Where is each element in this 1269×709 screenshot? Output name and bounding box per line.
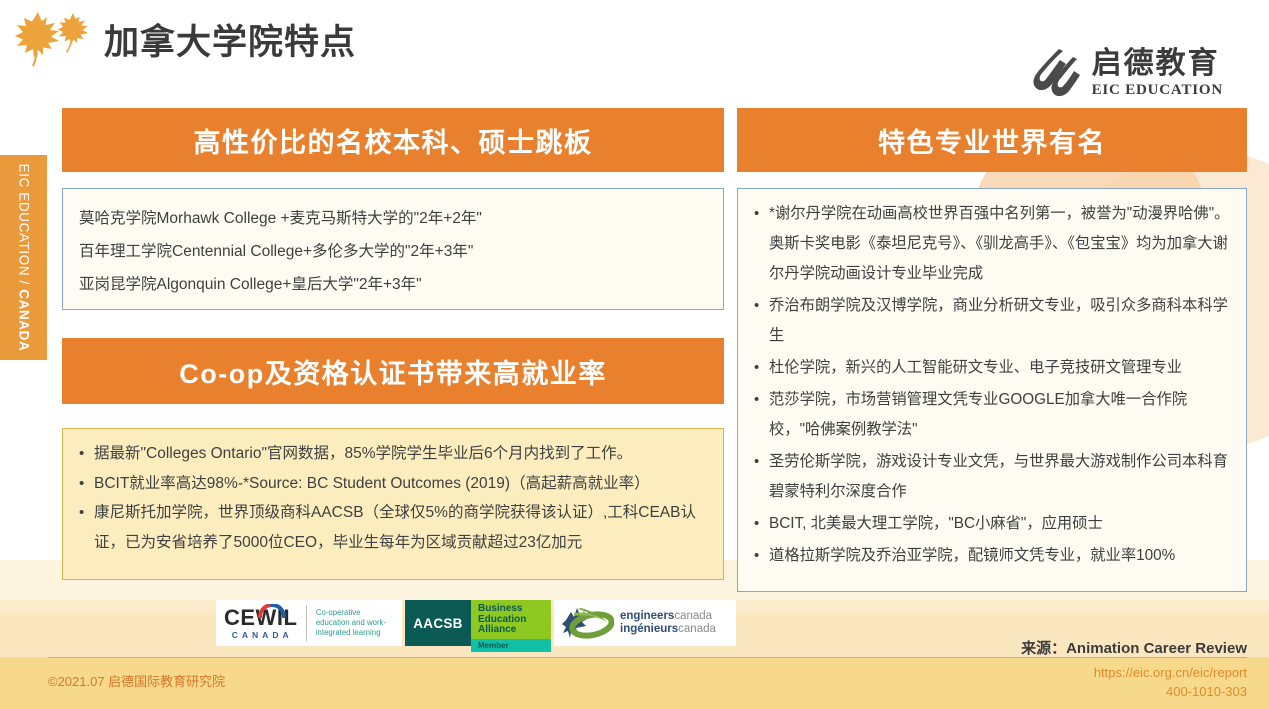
sidebar-vertical-tab: EIC EDUCATION / CANADA [0,155,47,360]
engineers-canada-en-bold: engineers [620,610,674,622]
left-box-1-line: 百年理工学院Centennial College+多伦多大学的"2年+3年" [79,235,707,268]
cewil-country: CANADA [232,631,293,640]
page-title: 加拿大学院特点 [104,14,356,65]
left-band-1-label: 高性价比的名校本科、硕士跳板 [194,121,593,160]
sidebar-tab-label: EIC EDUCATION / CANADA [16,164,31,352]
footer-phone: 400-1010-303 [1094,682,1247,701]
left-box-2-list: 据最新"Colleges Ontario"官网数据，85%学院学生毕业后6个月内… [63,429,723,567]
aacsb-name: AACSB [405,600,471,646]
engineers-canada-line-en: engineerscanada [620,610,716,623]
footer-divider [48,657,1247,658]
aacsb-logo: AACSB Business Education Alliance Member [405,600,551,646]
list-item: 范莎学院，市场营销管理文凭专业GOOGLE加拿大唯一合作院校，"哈佛案例教学法" [752,385,1234,445]
left-box-1-lines: 莫哈克学院Morhawk College +麦克马斯特大学的"2年+2年" 百年… [63,189,723,311]
engineers-canada-fr-grey: canada [678,623,716,635]
partner-logo-row: CEWIL CANADA Co-operative education and … [216,600,736,646]
list-item: 乔治布朗学院及汉博学院，商业分析研文专业，吸引众多商科本科学生 [752,291,1234,351]
sidebar-tab-label-bold: CANADA [16,289,31,351]
eic-logo-mark-icon [1029,46,1083,100]
maple-leaf-icon [12,8,98,70]
source-note-value: Animation Career Review [1066,640,1247,657]
eic-logo-wordmark: 启德教育 EIC EDUCATION [1092,49,1223,98]
engineers-canada-fr-bold: ingénieurs [620,623,678,635]
right-band-label: 特色专业世界有名 [878,121,1106,160]
left-box-1-line: 亚岗昆学院Algonquin College+皇后大学"2年+3年" [79,268,707,301]
list-item: 康尼斯托加学院，世界顶级商科AACSB（全球仅5%的商学院获得该认证）,工科CE… [77,498,711,557]
cewil-arc-icon [258,604,286,618]
cewil-tagline: Co-operative education and work-integrat… [316,608,394,638]
engineers-canada-line-fr: ingénieurscanada [620,623,716,636]
source-note: 来源：Animation Career Review [1021,637,1247,658]
cewil-wordmark: CEWIL CANADA [224,607,297,640]
list-item: BCIT就业率高达98%-*Source: BC Student Outcome… [77,469,711,499]
engineers-canada-en-grey: canada [674,610,712,622]
aacsb-alliance-label: Business Education Alliance [471,600,551,639]
aacsb-member-label: Member [471,639,551,652]
list-item: 杜伦学院，新兴的人工智能研文专业、电子竞技研文管理专业 [752,353,1234,383]
maple-leaf-svg [12,8,98,70]
engineers-canada-mark-icon [562,606,614,640]
eic-logo: 启德教育 EIC EDUCATION [1029,46,1223,100]
list-item: 道格拉斯学院及乔治亚学院，配镜师文凭专业，就业率100% [752,541,1234,571]
right-band: 特色专业世界有名 [737,108,1247,172]
footer-url[interactable]: https://eic.org.cn/eic/report [1094,663,1247,682]
footer-bar: ©2021.07 启德国际教育研究院 https://eic.org.cn/ei… [0,657,1269,709]
footer-copyright: ©2021.07 启德国际教育研究院 [48,671,225,690]
left-band-1: 高性价比的名校本科、硕士跳板 [62,108,724,172]
left-box-1: 莫哈克学院Morhawk College +麦克马斯特大学的"2年+2年" 百年… [62,188,724,310]
sidebar-tab-label-normal: EIC EDUCATION / [16,164,31,290]
left-band-2-label: Co-op及资格认证书带来高就业率 [179,352,606,391]
source-note-label: 来源： [1021,640,1066,657]
list-item: BCIT, 北美最大理工学院，"BC小麻省"，应用硕士 [752,509,1234,539]
engineers-canada-wordmark: engineerscanada ingénieurscanada [620,610,716,636]
aacsb-alliance-block: Business Education Alliance Member [471,600,551,646]
left-box-1-line: 莫哈克学院Morhawk College +麦克马斯特大学的"2年+2年" [79,202,707,235]
list-item: 据最新"Colleges Ontario"官网数据，85%学院学生毕业后6个月内… [77,439,711,469]
cewil-logo: CEWIL CANADA Co-operative education and … [216,600,402,646]
left-band-2: Co-op及资格认证书带来高就业率 [62,338,724,404]
right-box-list: *谢尔丹学院在动画高校世界百强中名列第一，被誉为"动漫界哈佛"。奥斯卡奖电影《泰… [738,189,1246,583]
list-item: 圣劳伦斯学院，游戏设计专业文凭，与世界最大游戏制作公司本科育碧蒙特利尔深度合作 [752,447,1234,507]
left-box-2: 据最新"Colleges Ontario"官网数据，85%学院学生毕业后6个月内… [62,428,724,580]
slide-canvas: EIC EDUCATION / CANADA 加拿大学院特点 启德教育 EIC … [0,0,1269,709]
right-box: *谢尔丹学院在动画高校世界百强中名列第一，被誉为"动漫界哈佛"。奥斯卡奖电影《泰… [737,188,1247,592]
eic-logo-english: EIC EDUCATION [1092,83,1223,98]
eic-logo-chinese: 启德教育 [1092,49,1223,79]
list-item: *谢尔丹学院在动画高校世界百强中名列第一，被誉为"动漫界哈佛"。奥斯卡奖电影《泰… [752,199,1234,289]
engineers-canada-logo: engineerscanada ingénieurscanada [554,600,736,646]
footer-contact: https://eic.org.cn/eic/report 400-1010-3… [1094,663,1247,701]
